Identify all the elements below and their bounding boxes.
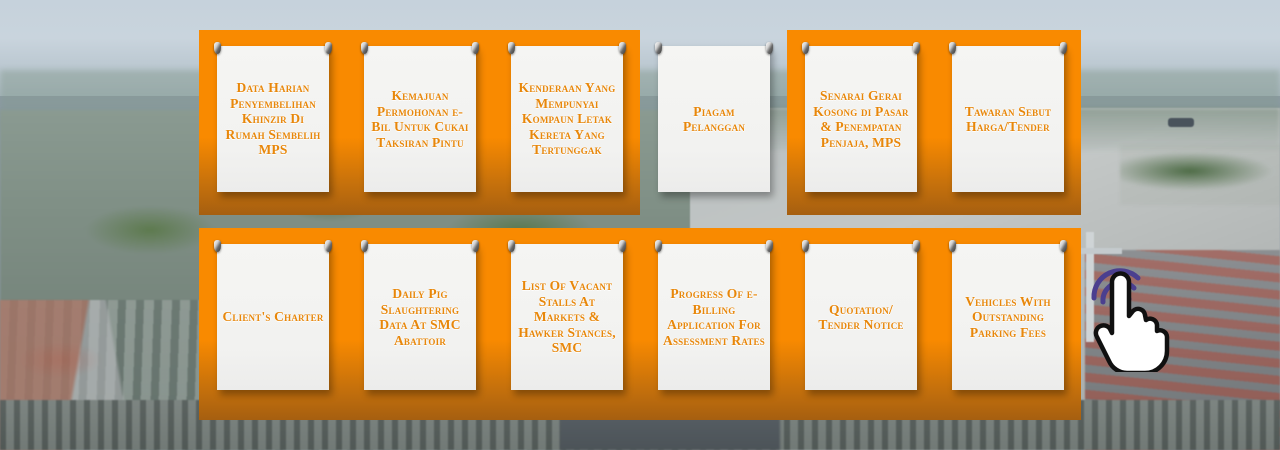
pin-icon — [472, 240, 479, 252]
pin-icon — [766, 42, 773, 54]
tile-cell: Quotation/ Tender Notice — [787, 228, 934, 420]
tile-cell: Progress Of e-Billing Application For As… — [640, 228, 787, 420]
pin-icon — [949, 42, 956, 54]
tile-cell: Kemajuan Permohonan e-Bil Untuk Cukai Ta… — [346, 30, 493, 215]
pin-icon — [619, 42, 626, 54]
pin-icon — [1060, 240, 1067, 252]
background-boat — [1168, 118, 1194, 127]
tile-label: Quotation/ Tender Notice — [809, 302, 913, 333]
tile-card-vehicles-outstanding-parking-fees[interactable]: Vehicles With Outstanding Parking Fees — [952, 244, 1064, 390]
pin-icon — [508, 42, 515, 54]
tile-card-kemajuan-permohonan-ebil[interactable]: Kemajuan Permohonan e-Bil Untuk Cukai Ta… — [364, 46, 476, 192]
pin-icon — [508, 240, 515, 252]
tile-label: Data Harian Penyembelihan Khinzir Di Rum… — [221, 80, 325, 158]
pin-icon — [949, 240, 956, 252]
tile-row-1: Data Harian Penyembelihan Khinzir Di Rum… — [199, 30, 1081, 215]
tile-cell: Daily Pig Slaughtering Data At SMC Abatt… — [346, 228, 493, 420]
tile-cell: Vehicles With Outstanding Parking Fees — [934, 228, 1081, 420]
pin-icon — [214, 240, 221, 252]
pin-icon — [361, 240, 368, 252]
pin-icon — [802, 240, 809, 252]
page-stage: Data Harian Penyembelihan Khinzir Di Rum… — [0, 0, 1280, 450]
tile-label: Kemajuan Permohonan e-Bil Untuk Cukai Ta… — [368, 88, 472, 150]
pin-icon — [802, 42, 809, 54]
tile-card-progress-of-ebilling-application[interactable]: Progress Of e-Billing Application For As… — [658, 244, 770, 390]
tile-label: Piagam Pelanggan — [662, 104, 766, 135]
tile-card-quotation-tender-notice[interactable]: Quotation/ Tender Notice — [805, 244, 917, 390]
tile-row-2: Client's Charter Daily Pig Slaughtering … — [199, 228, 1081, 420]
tile-card-data-harian-penyembelihan[interactable]: Data Harian Penyembelihan Khinzir Di Rum… — [217, 46, 329, 192]
tile-label: Progress Of e-Billing Application For As… — [662, 286, 766, 348]
tile-label: Kenderaan Yang Mempunyai Kompaun Letak K… — [515, 80, 619, 158]
tile-label: Senarai Gerai Kosong di Pasar & Penempat… — [809, 88, 913, 150]
pin-icon — [655, 240, 662, 252]
tile-card-tawaran-sebut-harga-tender[interactable]: Tawaran Sebut Harga/Tender — [952, 46, 1064, 192]
tile-cell: Data Harian Penyembelihan Khinzir Di Rum… — [199, 30, 346, 215]
pin-icon — [913, 240, 920, 252]
tile-card-list-of-vacant-stalls[interactable]: List Of Vacant Stalls At Markets & Hawke… — [511, 244, 623, 390]
tile-card-kenderaan-kompaun-letak-kereta[interactable]: Kenderaan Yang Mempunyai Kompaun Letak K… — [511, 46, 623, 192]
tile-card-clients-charter[interactable]: Client's Charter — [217, 244, 329, 390]
pin-icon — [766, 240, 773, 252]
pin-icon — [619, 240, 626, 252]
tile-grid: Data Harian Penyembelihan Khinzir Di Rum… — [199, 30, 1081, 422]
pin-icon — [1060, 42, 1067, 54]
tile-cell: Piagam Pelanggan — [640, 30, 787, 215]
pin-icon — [325, 42, 332, 54]
tile-cell: Client's Charter — [199, 228, 346, 420]
tile-card-senarai-gerai-kosong[interactable]: Senarai Gerai Kosong di Pasar & Penempat… — [805, 46, 917, 192]
tile-cell: Tawaran Sebut Harga/Tender — [934, 30, 1081, 215]
tile-cell: Senarai Gerai Kosong di Pasar & Penempat… — [787, 30, 934, 215]
tile-label: Daily Pig Slaughtering Data At SMC Abatt… — [368, 286, 472, 348]
pin-icon — [655, 42, 662, 54]
tile-cell: Kenderaan Yang Mempunyai Kompaun Letak K… — [493, 30, 640, 215]
tile-label: Client's Charter — [222, 309, 323, 325]
tile-card-daily-pig-slaughtering-data[interactable]: Daily Pig Slaughtering Data At SMC Abatt… — [364, 244, 476, 390]
tile-card-piagam-pelanggan[interactable]: Piagam Pelanggan — [658, 46, 770, 192]
tile-label: List Of Vacant Stalls At Markets & Hawke… — [515, 278, 619, 356]
background-green-bank — [1120, 145, 1280, 205]
pin-icon — [472, 42, 479, 54]
background-crane-jib — [1076, 248, 1122, 254]
pin-icon — [361, 42, 368, 54]
pin-icon — [214, 42, 221, 54]
tile-label: Tawaran Sebut Harga/Tender — [956, 104, 1060, 135]
tile-cell: List Of Vacant Stalls At Markets & Hawke… — [493, 228, 640, 420]
pin-icon — [325, 240, 332, 252]
tile-label: Vehicles With Outstanding Parking Fees — [956, 294, 1060, 341]
pin-icon — [913, 42, 920, 54]
